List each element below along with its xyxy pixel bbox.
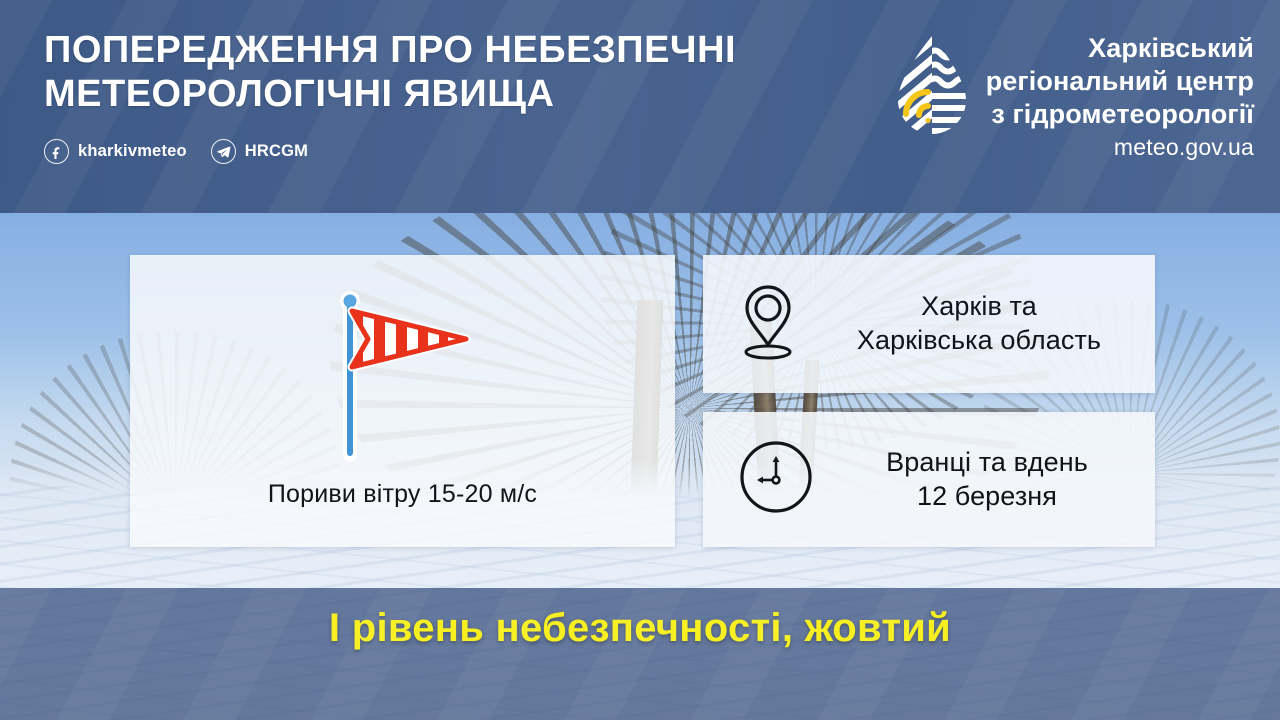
logo-line-2: регіональний центр: [986, 65, 1254, 98]
time-card-text: Вранці та вдень 12 березня: [841, 446, 1133, 514]
footer-band: І рівень небезпечності, жовтий: [0, 588, 1280, 720]
logo-website-url[interactable]: meteo.gov.ua: [986, 133, 1254, 161]
social-link-telegram[interactable]: HRCGM: [211, 139, 308, 164]
location-line-2: Харківська область: [825, 324, 1133, 358]
location-card-text: Харків та Харківська область: [825, 290, 1133, 358]
facebook-icon: [44, 139, 69, 164]
logo-text: Харківський регіональний центр з гідроме…: [986, 32, 1254, 161]
page-title-line-2: МЕТЕОРОЛОГІЧНІ ЯВИЩА: [44, 72, 736, 116]
time-line-1: Вранці та вдень: [841, 446, 1133, 480]
map-pin-icon: [737, 281, 799, 368]
clock-icon: [737, 438, 815, 521]
social-links: kharkivmeteo HRCGM: [44, 139, 736, 164]
water-droplet-logo-icon: [894, 32, 970, 142]
location-line-1: Харків та: [825, 290, 1133, 324]
header-band: ПОПЕРЕДЖЕННЯ ПРО НЕБЕЗПЕЧНІ МЕТЕОРОЛОГІЧ…: [0, 0, 1280, 213]
logo-line-1: Харківський: [986, 32, 1254, 65]
time-line-2: 12 березня: [841, 480, 1133, 514]
danger-level-text: І рівень небезпечності, жовтий: [0, 606, 1280, 651]
page-title-line-1: ПОПЕРЕДЖЕННЯ ПРО НЕБЕЗПЕЧНІ: [44, 28, 736, 72]
time-card: Вранці та вдень 12 березня: [703, 412, 1155, 547]
organization-logo: Харківський регіональний центр з гідроме…: [894, 26, 1254, 161]
social-label-telegram: HRCGM: [245, 142, 308, 161]
weather-warning-poster: ПОПЕРЕДЖЕННЯ ПРО НЕБЕЗПЕЧНІ МЕТЕОРОЛОГІЧ…: [0, 0, 1280, 720]
wind-card-label: Пориви вітру 15-20 м/с: [130, 480, 675, 509]
social-link-facebook[interactable]: kharkivmeteo: [44, 139, 187, 164]
telegram-icon: [211, 139, 236, 164]
logo-line-3: з гідрометеорології: [986, 98, 1254, 131]
wind-card: Пориви вітру 15-20 м/с: [130, 255, 675, 547]
location-card: Харків та Харківська область: [703, 255, 1155, 393]
page-title: ПОПЕРЕДЖЕННЯ ПРО НЕБЕЗПЕЧНІ МЕТЕОРОЛОГІЧ…: [44, 28, 736, 117]
title-block: ПОПЕРЕДЖЕННЯ ПРО НЕБЕЗПЕЧНІ МЕТЕОРОЛОГІЧ…: [44, 26, 736, 164]
social-label-facebook: kharkivmeteo: [78, 142, 187, 161]
wind-pennant-icon: [328, 283, 478, 468]
